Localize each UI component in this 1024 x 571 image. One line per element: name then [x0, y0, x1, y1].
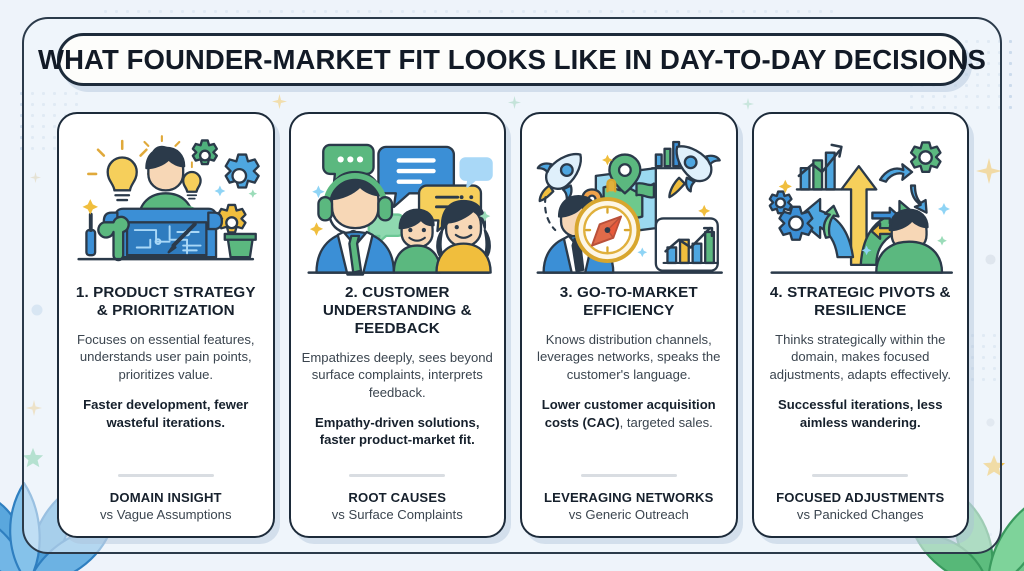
card-outcome: Empathy-driven solutions, faster product… — [301, 414, 495, 449]
card-title: 3. GO-TO-MARKET EFFICIENCY — [532, 284, 726, 320]
card-footer-weak: vs Generic Outreach — [532, 507, 726, 522]
rocket-map-compass-gtm-icon — [532, 126, 726, 278]
card-footer-strong: DOMAIN INSIGHT — [69, 490, 263, 505]
card-title: 4. STRATEGIC PIVOTS & RESILIENCE — [764, 284, 958, 320]
card-footer: DOMAIN INSIGHT vs Vague Assumptions — [69, 458, 263, 522]
card-description: Knows distribution channels, leverages n… — [532, 331, 726, 383]
card-outcome-bold: Faster development, fewer wasteful itera… — [83, 397, 248, 429]
card-footer-strong: FOCUSED ADJUSTMENTS — [764, 490, 958, 505]
card-footer-weak: vs Vague Assumptions — [69, 507, 263, 522]
card-footer-weak: vs Panicked Changes — [764, 507, 958, 522]
card-strategic-pivots[interactable]: 4. STRATEGIC PIVOTS & RESILIENCE Thinks … — [752, 112, 970, 538]
card-outcome-bold: Empathy-driven solutions, faster product… — [315, 415, 479, 447]
card-footer-strong: LEVERAGING NETWORKS — [532, 490, 726, 505]
card-outcome-bold: Successful iterations, less aimless wand… — [778, 397, 942, 429]
infographic-canvas: WHAT FOUNDER-MARKET FIT LOOKS LIKE IN DA… — [0, 0, 1024, 571]
card-go-to-market[interactable]: 3. GO-TO-MARKET EFFICIENCY Knows distrib… — [520, 112, 738, 538]
branching-arrows-pivot-icon — [764, 126, 958, 278]
card-description: Empathizes deeply, sees beyond surface c… — [301, 349, 495, 401]
card-outcome-regular: , targeted sales. — [620, 415, 713, 430]
card-footer: FOCUSED ADJUSTMENTS vs Panicked Changes — [764, 458, 958, 522]
card-description: Thinks strategically within the domain, … — [764, 331, 958, 383]
card-outcome: Faster development, fewer wasteful itera… — [69, 396, 263, 431]
card-description: Focuses on essential features, understan… — [69, 331, 263, 383]
card-divider — [812, 474, 908, 477]
card-outcome: Lower customer acquisition costs (CAC), … — [532, 396, 726, 431]
cards-row: 1. PRODUCT STRATEGY & PRIORITIZATION Foc… — [57, 112, 969, 538]
card-footer-strong: ROOT CAUSES — [301, 490, 495, 505]
card-outcome: Successful iterations, less aimless wand… — [764, 396, 958, 431]
card-footer: LEVERAGING NETWORKS vs Generic Outreach — [532, 458, 726, 522]
card-footer: ROOT CAUSES vs Surface Complaints — [301, 458, 495, 522]
card-customer-understanding[interactable]: 2. CUSTOMER UNDERSTANDING & FEEDBACK Emp… — [289, 112, 507, 538]
card-divider — [349, 474, 445, 477]
page-title-bar: WHAT FOUNDER-MARKET FIT LOOKS LIKE IN DA… — [57, 33, 967, 86]
blueprint-product-strategy-icon — [69, 126, 263, 278]
card-product-strategy[interactable]: 1. PRODUCT STRATEGY & PRIORITIZATION Foc… — [57, 112, 275, 538]
support-agent-customer-feedback-icon — [301, 126, 495, 278]
card-title: 1. PRODUCT STRATEGY & PRIORITIZATION — [69, 284, 263, 320]
card-title: 2. CUSTOMER UNDERSTANDING & FEEDBACK — [301, 284, 495, 338]
card-divider — [581, 474, 677, 477]
card-footer-weak: vs Surface Complaints — [301, 507, 495, 522]
card-divider — [118, 474, 214, 477]
page-title: WHAT FOUNDER-MARKET FIT LOOKS LIKE IN DA… — [38, 44, 986, 76]
